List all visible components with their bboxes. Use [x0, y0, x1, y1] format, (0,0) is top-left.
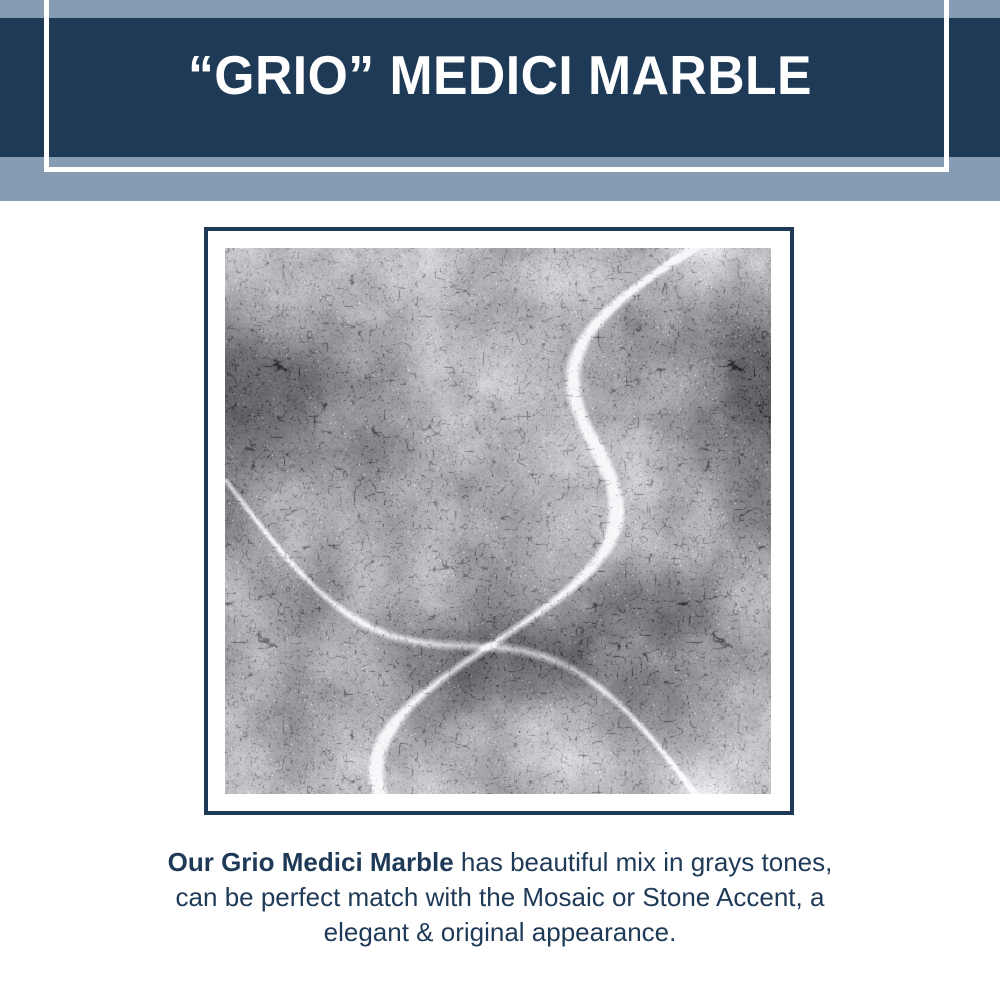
header-band: “GRIO” MEDICI MARBLE [0, 0, 1000, 201]
page-title: “GRIO” MEDICI MARBLE [86, 44, 913, 106]
marble-texture-image [225, 248, 771, 794]
product-image-frame [204, 227, 794, 815]
caption-line2: can be perfect match with the Mosaic or … [176, 882, 825, 912]
product-image-viewport [225, 248, 771, 794]
product-caption: Our Grio Medici Marble has beautiful mix… [70, 845, 930, 950]
caption-line1-rest: has beautiful mix in grays tones, [454, 847, 833, 877]
caption-line3: elegant & original appearance. [324, 917, 677, 947]
caption-lead: Our Grio Medici Marble [168, 847, 454, 877]
product-image-mat [208, 231, 790, 811]
